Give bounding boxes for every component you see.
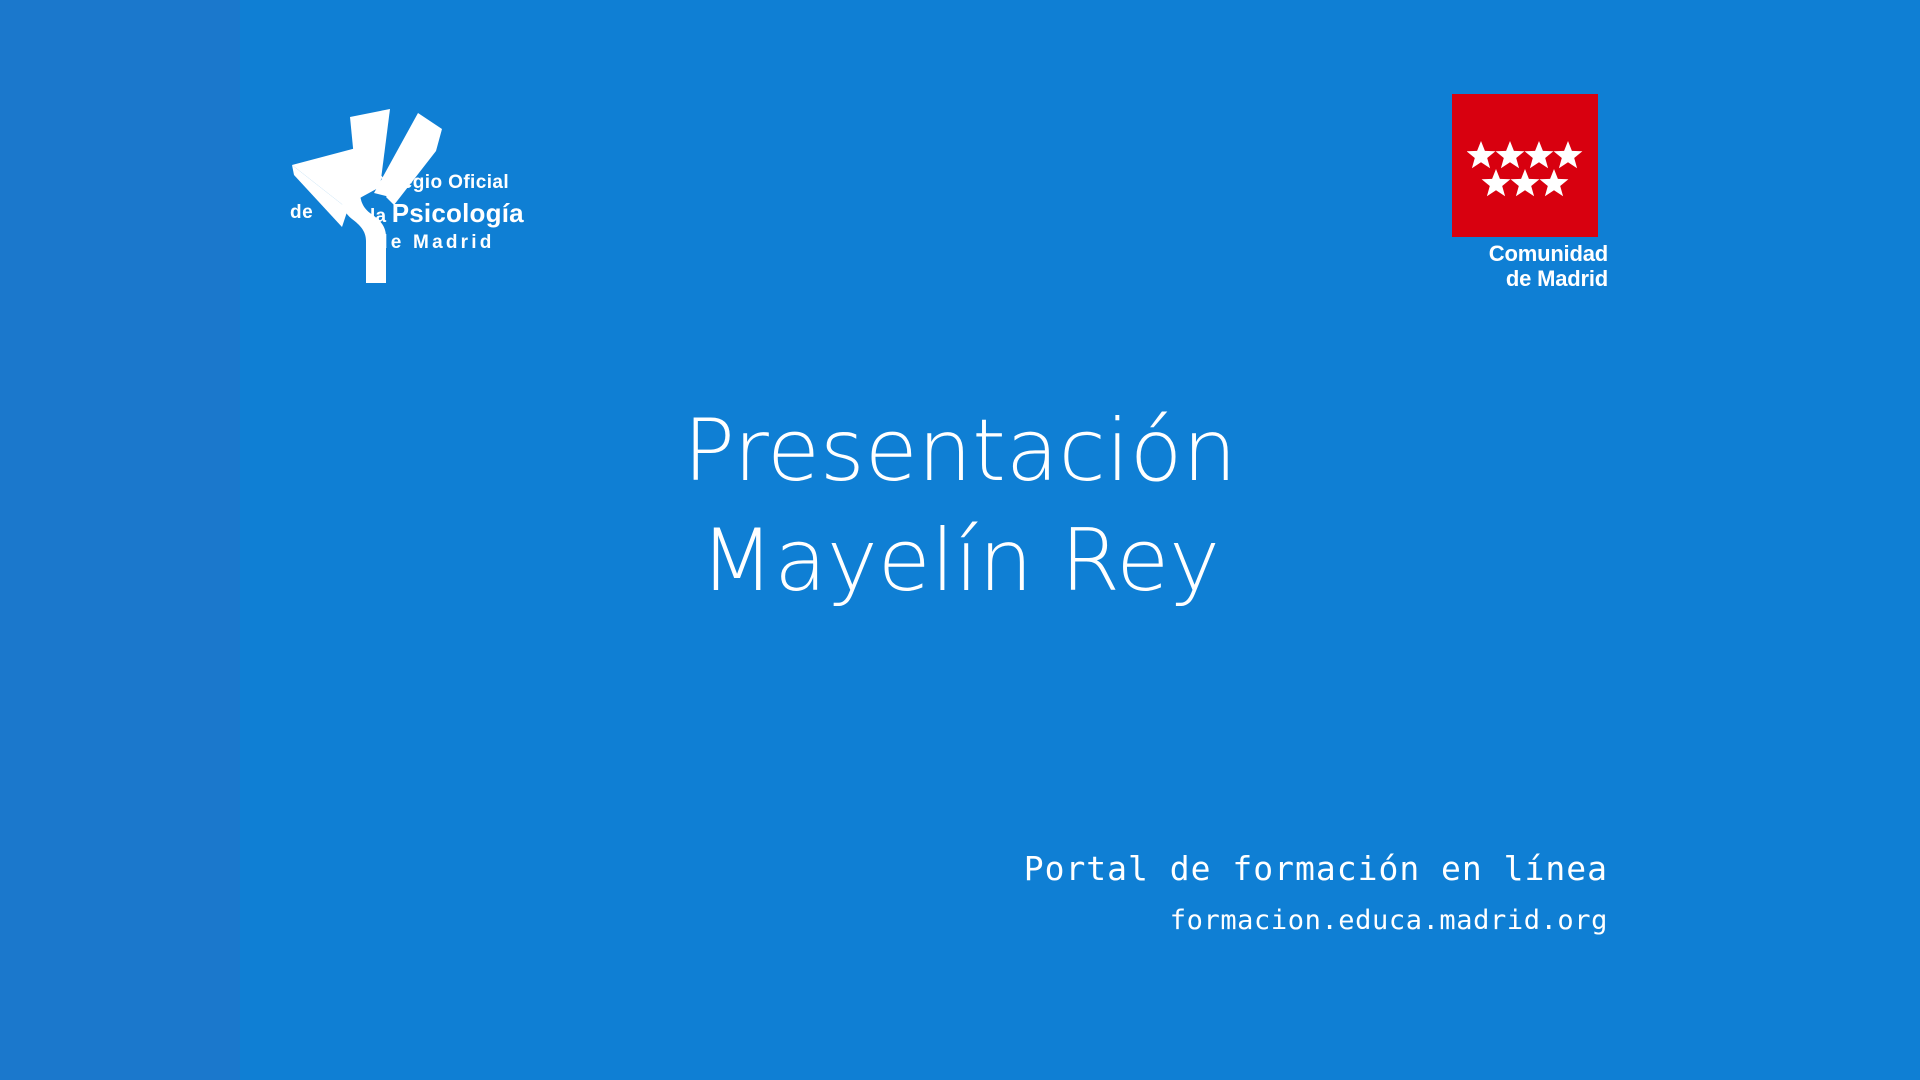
comunidad-line-2: de Madrid [1448,267,1608,292]
comunidad-line-1: Comunidad [1448,242,1608,267]
colegio-line-2-article: la [370,206,392,227]
title-line-2: Mayelín Rey [0,506,1920,616]
footer-block: Portal de formación en línea formacion.e… [1024,852,1608,934]
madrid-emblem-square [1452,94,1598,237]
colegio-word-de: de [290,203,313,222]
madrid-seven-stars-icon [1467,141,1583,203]
portal-label: Portal de formación en línea [1024,852,1608,885]
comunidad-de-madrid-logo: Comunidad de Madrid [1448,90,1608,305]
colegio-wordmark: de Colegio Oficial la Psicología de Madr… [290,165,580,275]
presentation-slide: de Colegio Oficial la Psicología de Madr… [0,0,1920,1080]
colegio-line-2-main: Psicología [392,198,524,228]
colegio-psicologia-madrid-logo: de Colegio Oficial la Psicología de Madr… [290,95,580,285]
colegio-line-1: Colegio Oficial [370,173,509,192]
colegio-line-2: la Psicología [370,200,524,226]
comunidad-de-madrid-wordmark: Comunidad de Madrid [1448,242,1608,291]
portal-url: formacion.educa.madrid.org [1024,907,1608,934]
slide-title: Presentación Mayelín Rey [0,396,1920,616]
title-line-1: Presentación [0,396,1920,506]
colegio-line-3: de Madrid [376,233,495,252]
